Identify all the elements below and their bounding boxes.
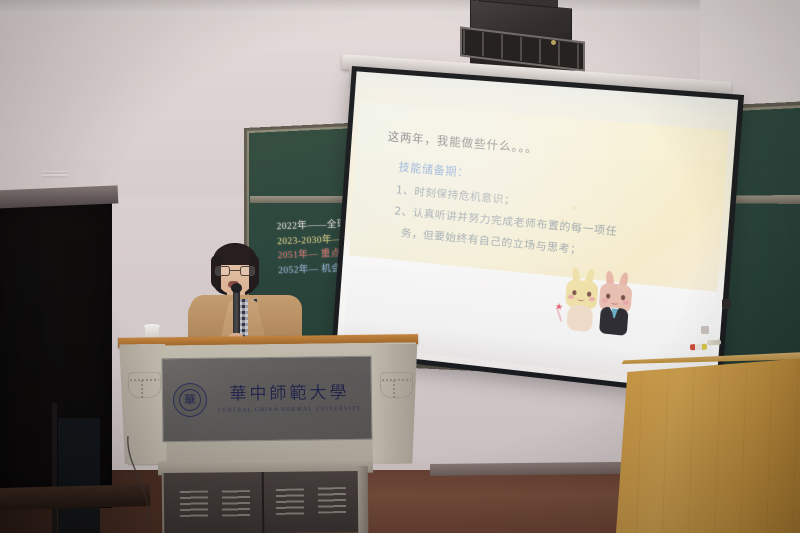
ceiling-strip xyxy=(0,0,800,14)
seal-glyph: 華 xyxy=(174,394,206,406)
suit-tie-icon xyxy=(611,308,618,318)
bunny-cheek-icon xyxy=(589,297,596,302)
desk-wood-grain xyxy=(616,360,800,533)
bell-ornament-right-icon xyxy=(380,372,413,399)
sparkle-icon xyxy=(572,206,575,209)
open-doorway[interactable] xyxy=(0,198,112,508)
university-plaque: 華 華中師範大學 CENTRAL CHINA NORMAL UNIVERSITY xyxy=(161,356,372,443)
plaque-text: 華中師範大學 CENTRAL CHINA NORMAL UNIVERSITY xyxy=(214,383,371,414)
university-seal-logo: 華 xyxy=(173,383,207,417)
bell-ornament-left-icon xyxy=(128,372,161,399)
white-marker[interactable] xyxy=(707,340,721,346)
bunny-body xyxy=(566,304,593,332)
lens-left xyxy=(215,266,230,276)
wall-switch-plate[interactable] xyxy=(701,326,709,334)
bunny-cheek-icon xyxy=(601,298,608,303)
bunny-mouth-icon xyxy=(577,297,585,302)
microphone[interactable] xyxy=(233,287,240,337)
cabinet-vent-icon xyxy=(180,491,208,517)
bunny-cheek-icon xyxy=(623,300,630,305)
cabinet-door-split xyxy=(262,472,265,533)
podium-side-right xyxy=(371,344,418,465)
eyeglasses-icon xyxy=(214,266,256,277)
mount-screw-icon xyxy=(551,40,556,45)
bunny-mouth-icon xyxy=(611,300,619,305)
slide-mascot-group xyxy=(562,201,650,275)
podium-cabinet[interactable] xyxy=(162,471,363,533)
cabinet-vent-icon xyxy=(222,490,250,516)
door-mullion xyxy=(52,403,57,533)
microphone-head-icon xyxy=(231,283,242,293)
bunny-cheek-icon xyxy=(568,295,575,300)
red-marker[interactable] xyxy=(690,344,707,351)
cabinet-vent-icon xyxy=(276,489,304,515)
wall-mounted-knob[interactable] xyxy=(722,299,731,309)
plaque-name-english: CENTRAL CHINA NORMAL UNIVERSITY xyxy=(214,406,365,414)
podium-cable xyxy=(124,436,174,533)
glasses-bridge xyxy=(230,270,240,271)
door-glass-panel xyxy=(58,418,100,533)
bunny-suit xyxy=(599,306,629,336)
lecture-hall-photo: 2022年——全球 2023-2030年— 先 2051年— 重点！ 在 205… xyxy=(0,0,800,533)
cabinet-vent-icon xyxy=(318,487,346,513)
wall-vent-icon xyxy=(42,171,68,178)
lens-right xyxy=(240,266,255,276)
plaque-name-chinese: 華中師範大學 xyxy=(214,383,365,404)
podium-support-post xyxy=(358,466,369,533)
